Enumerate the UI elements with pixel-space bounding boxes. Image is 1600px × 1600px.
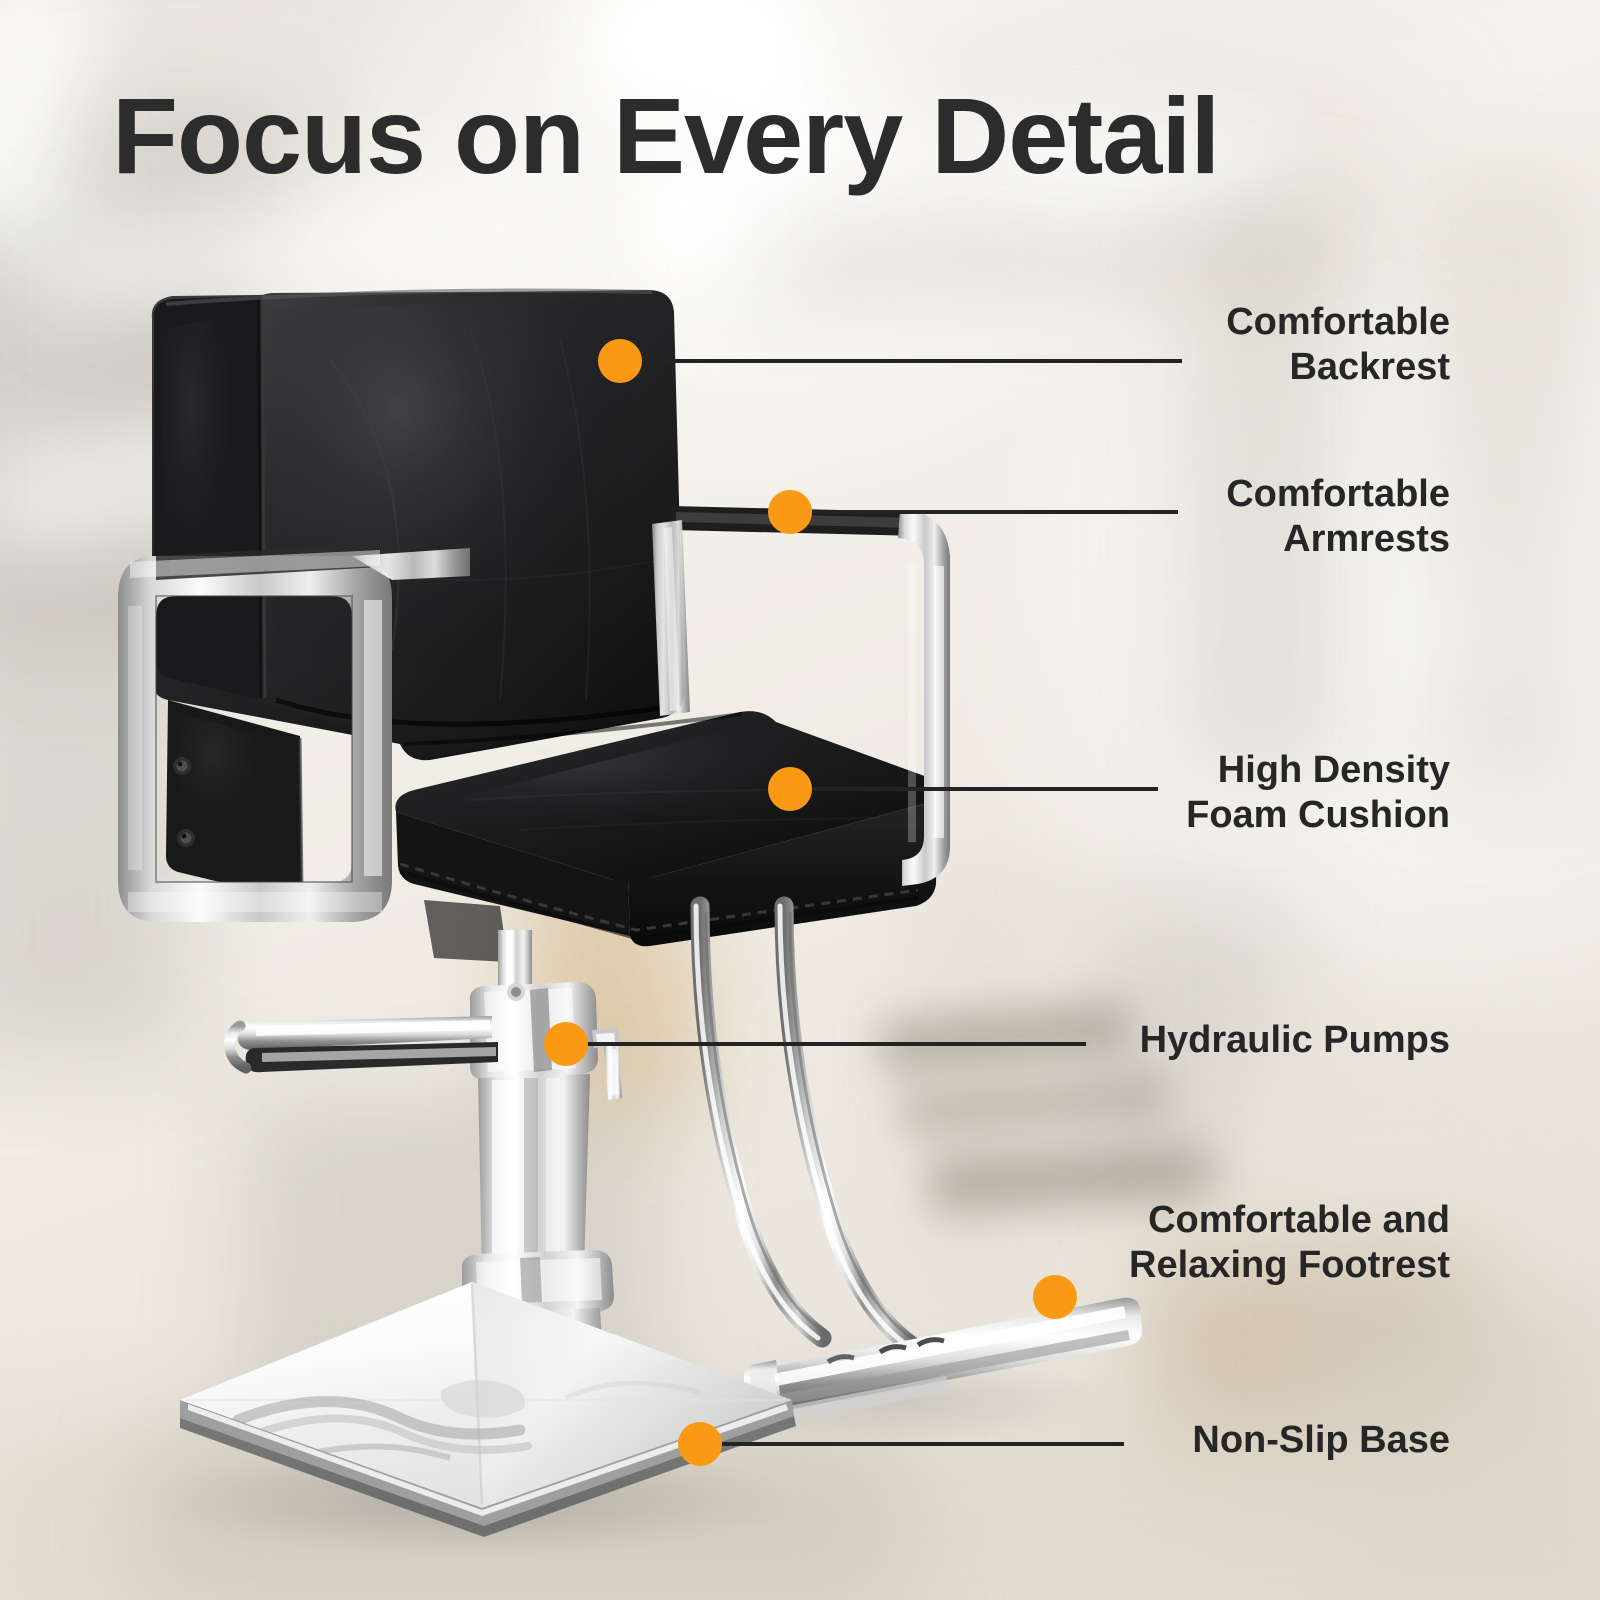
infographic-canvas: Focus on Every Detail Comfortable Backre… <box>0 0 1600 1600</box>
callout-label-footrest: Comfortable and Relaxing Footrest <box>1030 1198 1450 1288</box>
callout-label-hydraulic-pumps: Hydraulic Pumps <box>1050 1018 1450 1063</box>
callout-dot-non-slip-base[interactable] <box>678 1422 722 1466</box>
callout-label-armrests: Comfortable Armrests <box>1120 472 1450 562</box>
callout-label-non-slip-base: Non-Slip Base <box>1090 1418 1450 1463</box>
callout-label-backrest: Comfortable Backrest <box>1120 300 1450 390</box>
page-title: Focus on Every Detail <box>112 82 1512 190</box>
leader-line-hydraulic-pumps <box>586 1042 1086 1046</box>
callout-label-foam-cushion: High Density Foam Cushion <box>1070 748 1450 838</box>
callout-dot-backrest[interactable] <box>598 339 642 383</box>
callout-dot-foam-cushion[interactable] <box>768 767 812 811</box>
callout-dot-hydraulic-pumps[interactable] <box>544 1022 588 1066</box>
leader-line-backrest <box>640 359 1182 363</box>
leader-line-non-slip-base <box>720 1442 1124 1446</box>
callout-dot-armrests[interactable] <box>768 490 812 534</box>
